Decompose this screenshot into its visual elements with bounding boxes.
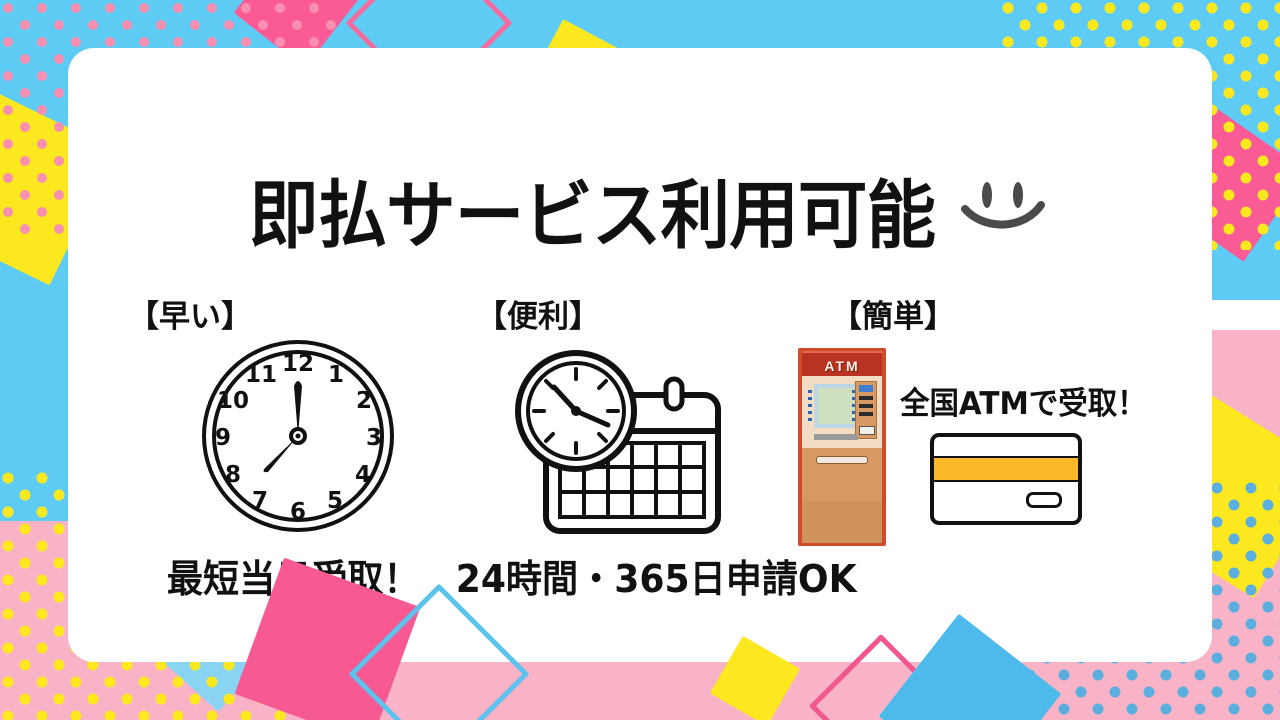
svg-text:12: 12 bbox=[282, 351, 314, 377]
atm-banner-label: ATM bbox=[824, 358, 859, 374]
title-row: 即払サービス利用可能 bbox=[68, 166, 1212, 266]
svg-text:4: 4 bbox=[355, 462, 371, 488]
card-magnetic-stripe bbox=[934, 456, 1078, 482]
atm-banner: ATM bbox=[802, 351, 882, 378]
tagline-row: 最短当日受取！ 24時間・365日申請OK bbox=[68, 548, 1212, 603]
feature-label-fast: 【早い】 bbox=[128, 291, 252, 336]
svg-text:10: 10 bbox=[217, 388, 249, 414]
credit-card-icon bbox=[930, 433, 1090, 531]
svg-text:5: 5 bbox=[327, 488, 343, 514]
analog-clock-icon: 12 1 2 3 4 5 6 7 8 9 10 11 bbox=[198, 336, 398, 536]
svg-text:1: 1 bbox=[328, 362, 344, 388]
svg-text:9: 9 bbox=[215, 425, 231, 451]
svg-text:11: 11 bbox=[245, 362, 277, 388]
svg-text:7: 7 bbox=[252, 488, 268, 514]
feature-label-easy: 【簡単】 bbox=[831, 291, 955, 336]
feature-label-convenient: 【便利】 bbox=[476, 291, 600, 336]
svg-text:6: 6 bbox=[290, 499, 306, 525]
atm-caption: 全国ATMで受取！ bbox=[900, 378, 1147, 423]
svg-text:3: 3 bbox=[366, 425, 382, 451]
svg-text:8: 8 bbox=[225, 462, 241, 488]
calendar-clock-icon bbox=[508, 343, 728, 543]
poster-canvas: 即払サービス利用可能 【早い】 【便利】 【簡単】 12 1 bbox=[0, 0, 1280, 720]
atm-machine-icon: ATM bbox=[798, 348, 886, 546]
card-signature-box bbox=[1026, 492, 1062, 508]
svg-text:2: 2 bbox=[356, 388, 372, 414]
smiley-face-icon bbox=[961, 175, 1053, 258]
page-title: 即払サービス利用可能 bbox=[249, 179, 935, 253]
content-card: 即払サービス利用可能 【早い】 【便利】 【簡単】 12 1 bbox=[68, 48, 1212, 662]
feature-labels: 【早い】 【便利】 【簡単】 bbox=[68, 291, 1212, 331]
